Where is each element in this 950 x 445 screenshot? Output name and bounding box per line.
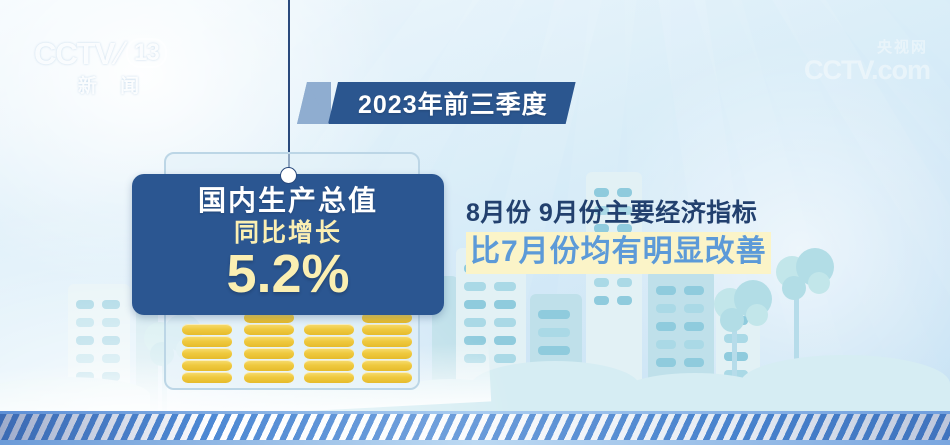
cctv-com-watermark: 央视网 CCTV.com xyxy=(804,36,930,83)
tree-foliage xyxy=(720,308,744,332)
tree-trunk xyxy=(794,286,799,424)
building-window xyxy=(656,358,676,367)
building-window xyxy=(494,336,516,345)
coin xyxy=(304,348,354,359)
coin xyxy=(304,360,354,371)
building-window xyxy=(656,322,676,331)
coin xyxy=(304,324,354,335)
coin xyxy=(362,360,412,371)
cctv-logo-number: 13 xyxy=(126,38,167,68)
tree-trunk xyxy=(732,318,737,424)
building-window xyxy=(724,334,748,343)
watermark-cn-label: 央视网 xyxy=(877,39,928,56)
building-window xyxy=(684,358,704,367)
coin-stack xyxy=(304,324,354,384)
building xyxy=(456,248,526,424)
coin xyxy=(244,372,294,383)
building-window xyxy=(538,328,570,337)
coin xyxy=(244,360,294,371)
coin xyxy=(182,372,232,383)
coin xyxy=(182,336,232,347)
coin xyxy=(362,336,412,347)
building-window xyxy=(494,282,516,291)
gdp-indicator-label: 国内生产总值 xyxy=(198,185,378,217)
broadcast-graphic-frame: CCTV/13 新 闻 央视网 CCTV.com 2023年前三季度 国内生产总… xyxy=(0,0,950,445)
coin xyxy=(362,348,412,359)
tree-foliage xyxy=(746,304,768,326)
building-window xyxy=(76,318,94,327)
building-window xyxy=(464,336,486,345)
building-window xyxy=(102,372,120,381)
building-window xyxy=(102,390,120,399)
coin xyxy=(244,336,294,347)
tree-foliage xyxy=(808,272,830,294)
cctv-logo-brand: CCTV xyxy=(34,36,114,71)
building-window xyxy=(538,346,570,355)
building xyxy=(716,300,760,424)
tree-foliage xyxy=(776,256,808,288)
building-window xyxy=(656,286,676,295)
building-window xyxy=(76,354,94,363)
cctv13-logo: CCTV/13 新 闻 xyxy=(34,38,184,94)
coin xyxy=(182,360,232,371)
coin xyxy=(304,336,354,347)
connector-dot xyxy=(281,168,296,183)
coin xyxy=(244,324,294,335)
watermark-en-label: CCTV.com xyxy=(804,57,930,83)
building-window xyxy=(724,352,748,361)
building-window xyxy=(684,304,704,313)
building-window xyxy=(656,304,676,313)
building-window xyxy=(656,340,676,349)
coin xyxy=(362,372,412,383)
coin xyxy=(304,372,354,383)
building-window xyxy=(76,372,94,381)
building-window xyxy=(464,318,486,327)
building-window xyxy=(538,310,570,319)
building-window xyxy=(617,278,632,287)
building xyxy=(530,294,582,424)
coin xyxy=(182,324,232,335)
building-window xyxy=(76,390,94,399)
gdp-value: 5.2% xyxy=(226,246,349,302)
building-window xyxy=(76,336,94,345)
building-window xyxy=(464,300,486,309)
tree-foliage xyxy=(714,288,746,320)
building-window xyxy=(102,318,120,327)
building-window xyxy=(684,340,704,349)
building-window xyxy=(464,354,486,363)
building-window xyxy=(102,354,120,363)
building xyxy=(648,270,714,424)
cctv-logo-subtitle: 新 闻 xyxy=(34,71,184,98)
building-window xyxy=(102,336,120,345)
building-window xyxy=(617,296,632,305)
headline-line-1: 8月份 9月份主要经济指标 xyxy=(466,196,771,230)
tree-foliage xyxy=(782,276,806,300)
headline-block: 8月份 9月份主要经济指标 比7月份均有明显改善 xyxy=(466,196,771,274)
coin xyxy=(182,348,232,359)
building-window xyxy=(724,316,748,325)
banner-body: 2023年前三季度 xyxy=(328,82,576,124)
building-window xyxy=(494,354,516,363)
building-window xyxy=(594,296,609,305)
headline-highlight: 比7月份均有明显改善 xyxy=(466,232,771,274)
building-window xyxy=(594,278,609,287)
coin xyxy=(362,324,412,335)
coin-stack xyxy=(182,324,232,384)
building-window xyxy=(494,318,516,327)
coin xyxy=(244,348,294,359)
building-window xyxy=(538,364,570,373)
building-window xyxy=(464,282,486,291)
building-window xyxy=(684,322,704,331)
building xyxy=(68,284,130,424)
building-window xyxy=(102,300,120,309)
tree-foliage xyxy=(734,280,772,318)
building-window xyxy=(684,286,704,295)
gdp-stat-card: 国内生产总值 同比增长 5.2% xyxy=(132,174,444,315)
tree-foliage xyxy=(796,248,834,286)
banner-title: 2023年前三季度 xyxy=(358,85,548,121)
building-window xyxy=(724,370,748,379)
building-window xyxy=(494,300,516,309)
headline-line-2: 比7月份均有明显改善 xyxy=(470,233,767,271)
building-window xyxy=(76,300,94,309)
